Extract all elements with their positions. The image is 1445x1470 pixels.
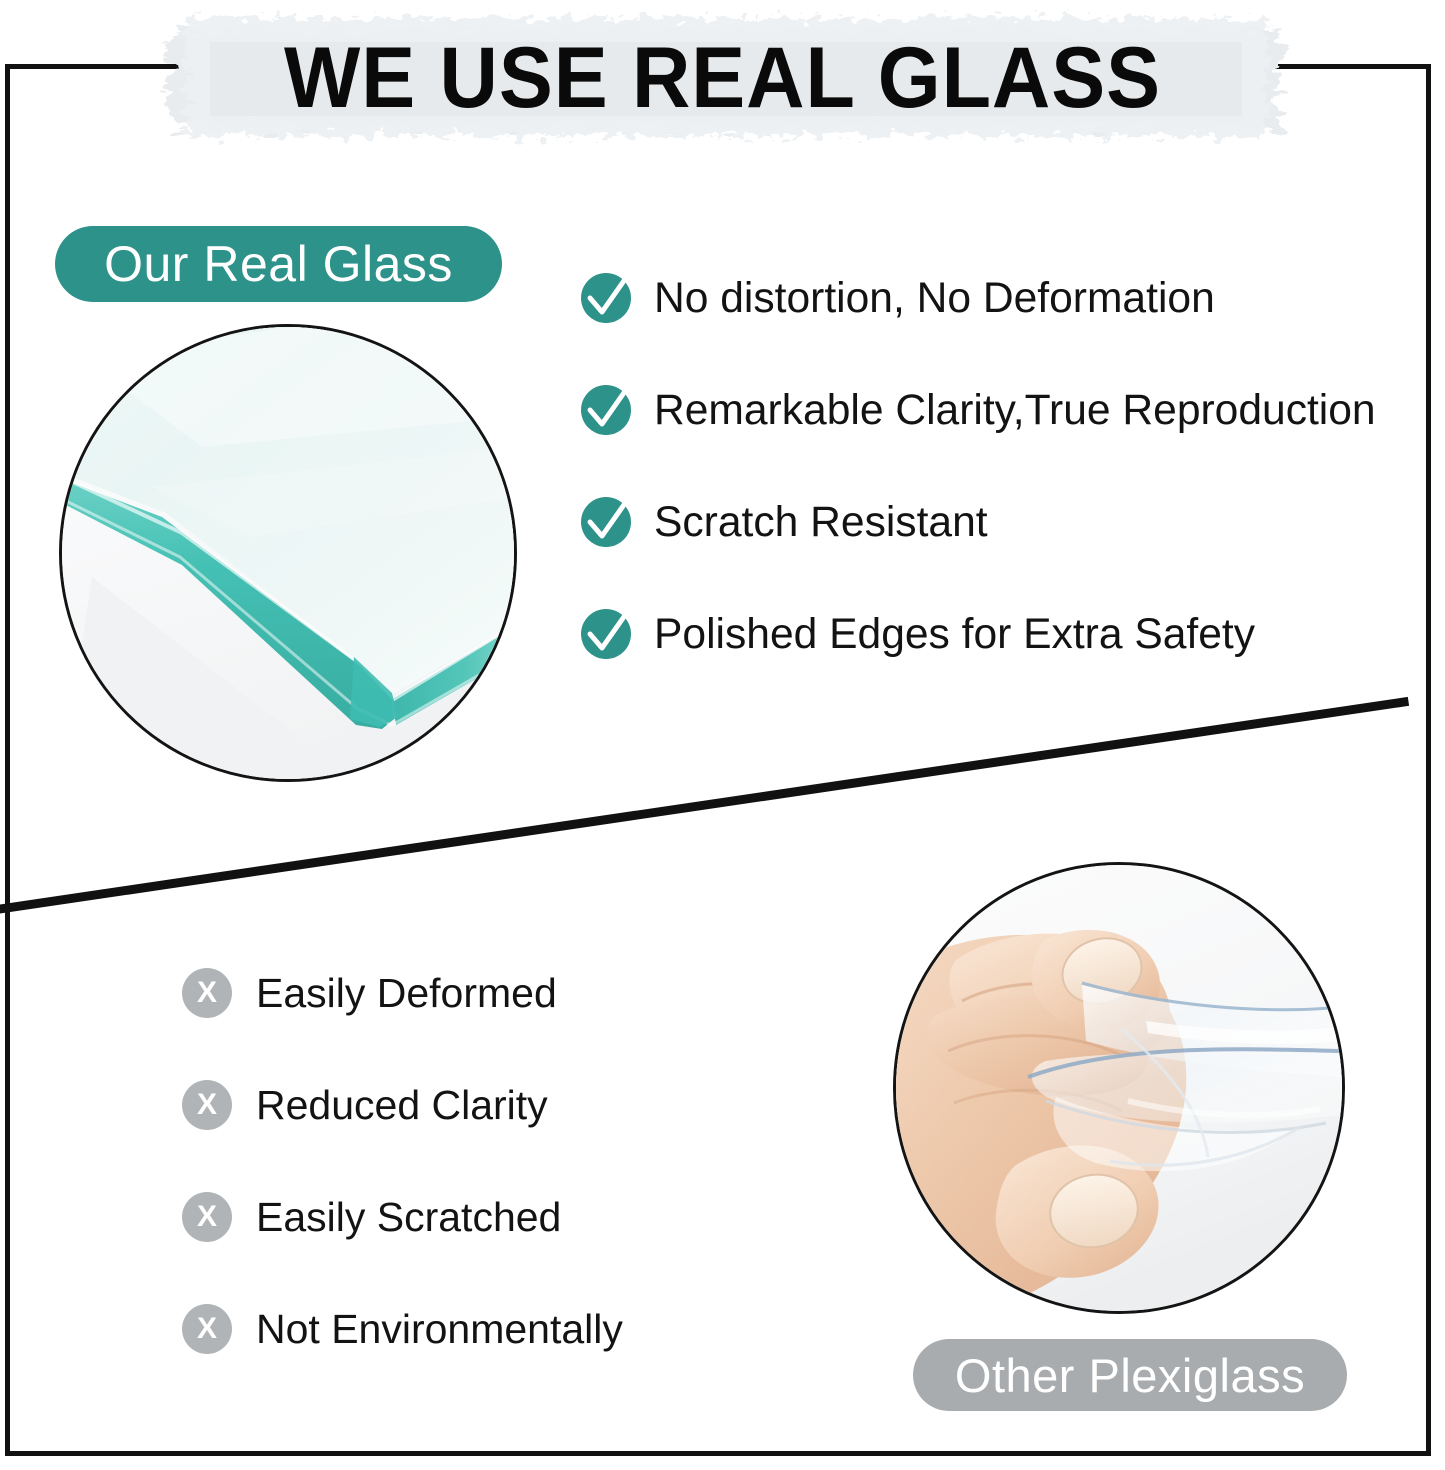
advantage-list: No distortion, No Deformation Remarkable… <box>580 270 1440 662</box>
check-icon <box>580 608 632 660</box>
check-icon <box>580 272 632 324</box>
drawback-list: X Easily Deformed X Reduced Clarity X Ea… <box>182 968 882 1354</box>
list-item-label: Easily Scratched <box>256 1192 561 1242</box>
list-item: Remarkable Clarity,True Reproduction <box>580 382 1440 438</box>
list-item-label: Remarkable Clarity,True Reproduction <box>654 384 1376 436</box>
list-item: Scratch Resistant <box>580 494 1440 550</box>
x-icon-glyph: X <box>197 1202 217 1232</box>
infographic-canvas: WE USE REAL GLASS Our Real Glass <box>0 0 1445 1470</box>
list-item: No distortion, No Deformation <box>580 270 1440 326</box>
check-icon <box>580 496 632 548</box>
x-icon: X <box>182 1192 232 1242</box>
real-glass-corner-photo <box>59 324 517 782</box>
list-item: X Not Environmentally <box>182 1304 882 1354</box>
list-item-label: No distortion, No Deformation <box>654 272 1215 324</box>
check-icon <box>580 384 632 436</box>
list-item: Polished Edges for Extra Safety <box>580 606 1440 662</box>
x-icon-glyph: X <box>197 1314 217 1344</box>
page-title: WE USE REAL GLASS <box>43 30 1401 126</box>
x-icon: X <box>182 1080 232 1130</box>
plexiglass-bending-photo <box>893 862 1345 1314</box>
badge-other-plexiglass: Other Plexiglass <box>913 1339 1347 1411</box>
list-item: X Easily Deformed <box>182 968 882 1018</box>
list-item: X Reduced Clarity <box>182 1080 882 1130</box>
list-item-label: Not Environmentally <box>256 1304 623 1354</box>
list-item-label: Scratch Resistant <box>654 496 988 548</box>
x-icon: X <box>182 968 232 1018</box>
list-item: X Easily Scratched <box>182 1192 882 1242</box>
list-item-label: Polished Edges for Extra Safety <box>654 608 1255 660</box>
badge-our-real-glass: Our Real Glass <box>55 226 502 302</box>
list-item-label: Easily Deformed <box>256 968 557 1018</box>
x-icon-glyph: X <box>197 978 217 1008</box>
x-icon-glyph: X <box>197 1090 217 1120</box>
list-item-label: Reduced Clarity <box>256 1080 548 1130</box>
x-icon: X <box>182 1304 232 1354</box>
